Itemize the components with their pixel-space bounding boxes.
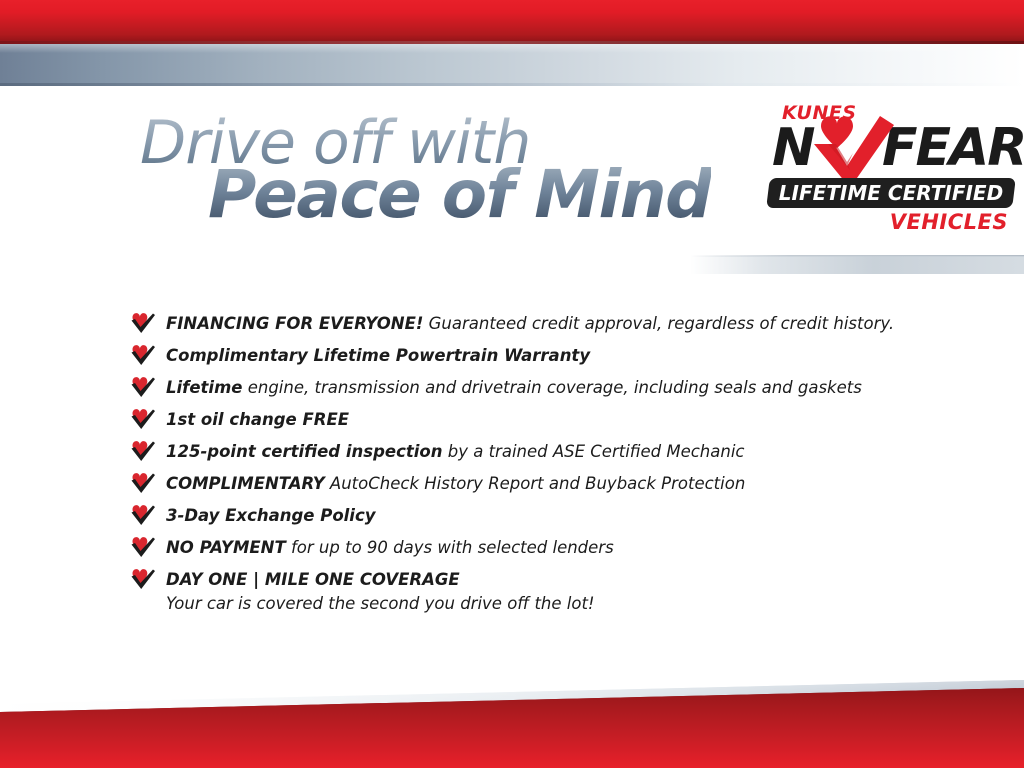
list-item-text: NO PAYMENT for up to 90 days with select…: [166, 532, 930, 564]
header: Drive off with Peace of Mind KUNES N FEA…: [0, 88, 1024, 278]
list-item: NO PAYMENT for up to 90 days with select…: [130, 532, 930, 564]
list-item-bold: COMPLIMENTARY: [166, 474, 325, 493]
heart-check-icon: [130, 568, 156, 590]
top-gray-band-shadow: [0, 83, 1024, 86]
list-item: 1st oil change FREE: [130, 404, 930, 436]
top-banner: [0, 0, 1024, 88]
heart-check-icon: [130, 376, 156, 398]
list-item: 3-Day Exchange Policy: [130, 500, 930, 532]
list-item-bold: 1st oil change FREE: [166, 410, 349, 429]
kunes-no-fear-logo: KUNES N FEAR LIFETIME CERTIFIED VEHICLES: [764, 102, 1016, 247]
logo-word-vehicles: VEHICLES: [890, 210, 1008, 234]
list-item-text: DAY ONE | MILE ONE COVERAGE: [166, 564, 930, 596]
list-item-text: FINANCING FOR EVERYONE! Guaranteed credi…: [166, 308, 930, 340]
list-item-text: Complimentary Lifetime Powertrain Warran…: [166, 340, 930, 372]
heart-check-icon: [130, 344, 156, 366]
logo-word-fear: FEAR: [882, 120, 1024, 176]
list-item-bold: Complimentary Lifetime Powertrain Warran…: [166, 346, 590, 365]
list-item: 125-point certified inspection by a trai…: [130, 436, 930, 468]
heart-check-icon: [808, 114, 896, 188]
heart-check-icon: [130, 504, 156, 526]
list-item-bold: FINANCING FOR EVERYONE!: [166, 314, 423, 333]
list-item: DAY ONE | MILE ONE COVERAGE: [130, 564, 930, 596]
list-item: Complimentary Lifetime Powertrain Warran…: [130, 340, 930, 372]
list-item: Lifetime engine, transmission and drivet…: [130, 372, 930, 404]
top-gray-band-highlight: [0, 44, 1024, 53]
list-item: COMPLIMENTARY AutoCheck History Report a…: [130, 468, 930, 500]
heart-check-icon: [130, 312, 156, 334]
list-item-bold: NO PAYMENT: [166, 538, 286, 557]
top-red-band: [0, 0, 1024, 43]
list-item-text: 1st oil change FREE: [166, 404, 930, 436]
list-item: FINANCING FOR EVERYONE! Guaranteed credi…: [130, 308, 930, 340]
list-item-text: COMPLIMENTARY AutoCheck History Report a…: [166, 468, 930, 500]
heart-check-icon: [130, 408, 156, 430]
logo-lifetime-certified-bar: LIFETIME CERTIFIED: [766, 178, 1016, 208]
list-item-bold: 3-Day Exchange Policy: [166, 506, 376, 525]
page-title: Drive off with Peace of Mind: [140, 116, 711, 226]
list-item-rest: for up to 90 days with selected lenders: [286, 538, 614, 557]
heart-check-icon: [130, 472, 156, 494]
heart-check-icon: [130, 536, 156, 558]
logo-nofear-wordmark: N FEAR: [772, 120, 1016, 176]
list-item-text: Lifetime engine, transmission and drivet…: [166, 372, 930, 404]
list-item-text: 125-point certified inspection by a trai…: [166, 436, 930, 468]
heart-check-icon: [130, 440, 156, 462]
list-item-rest: engine, transmission and drivetrain cove…: [242, 378, 861, 397]
benefits-list: FINANCING FOR EVERYONE! Guaranteed credi…: [130, 308, 930, 616]
list-item-rest: Guaranteed credit approval, regardless o…: [423, 314, 894, 333]
list-item-bold: Lifetime: [166, 378, 242, 397]
list-item-rest: by a trained ASE Certified Mechanic: [443, 442, 745, 461]
list-item-bold: 125-point certified inspection: [166, 442, 443, 461]
logo-lifetime-certified-text: LIFETIME CERTIFIED: [768, 178, 1014, 208]
list-item-text: 3-Day Exchange Policy: [166, 500, 930, 532]
list-item-rest: AutoCheck History Report and Buyback Pro…: [325, 474, 746, 493]
headline-line-2: Peace of Mind: [208, 165, 711, 226]
bottom-banner: [0, 680, 1024, 768]
list-item-bold: DAY ONE | MILE ONE COVERAGE: [166, 570, 460, 589]
header-divider: [690, 256, 1024, 274]
